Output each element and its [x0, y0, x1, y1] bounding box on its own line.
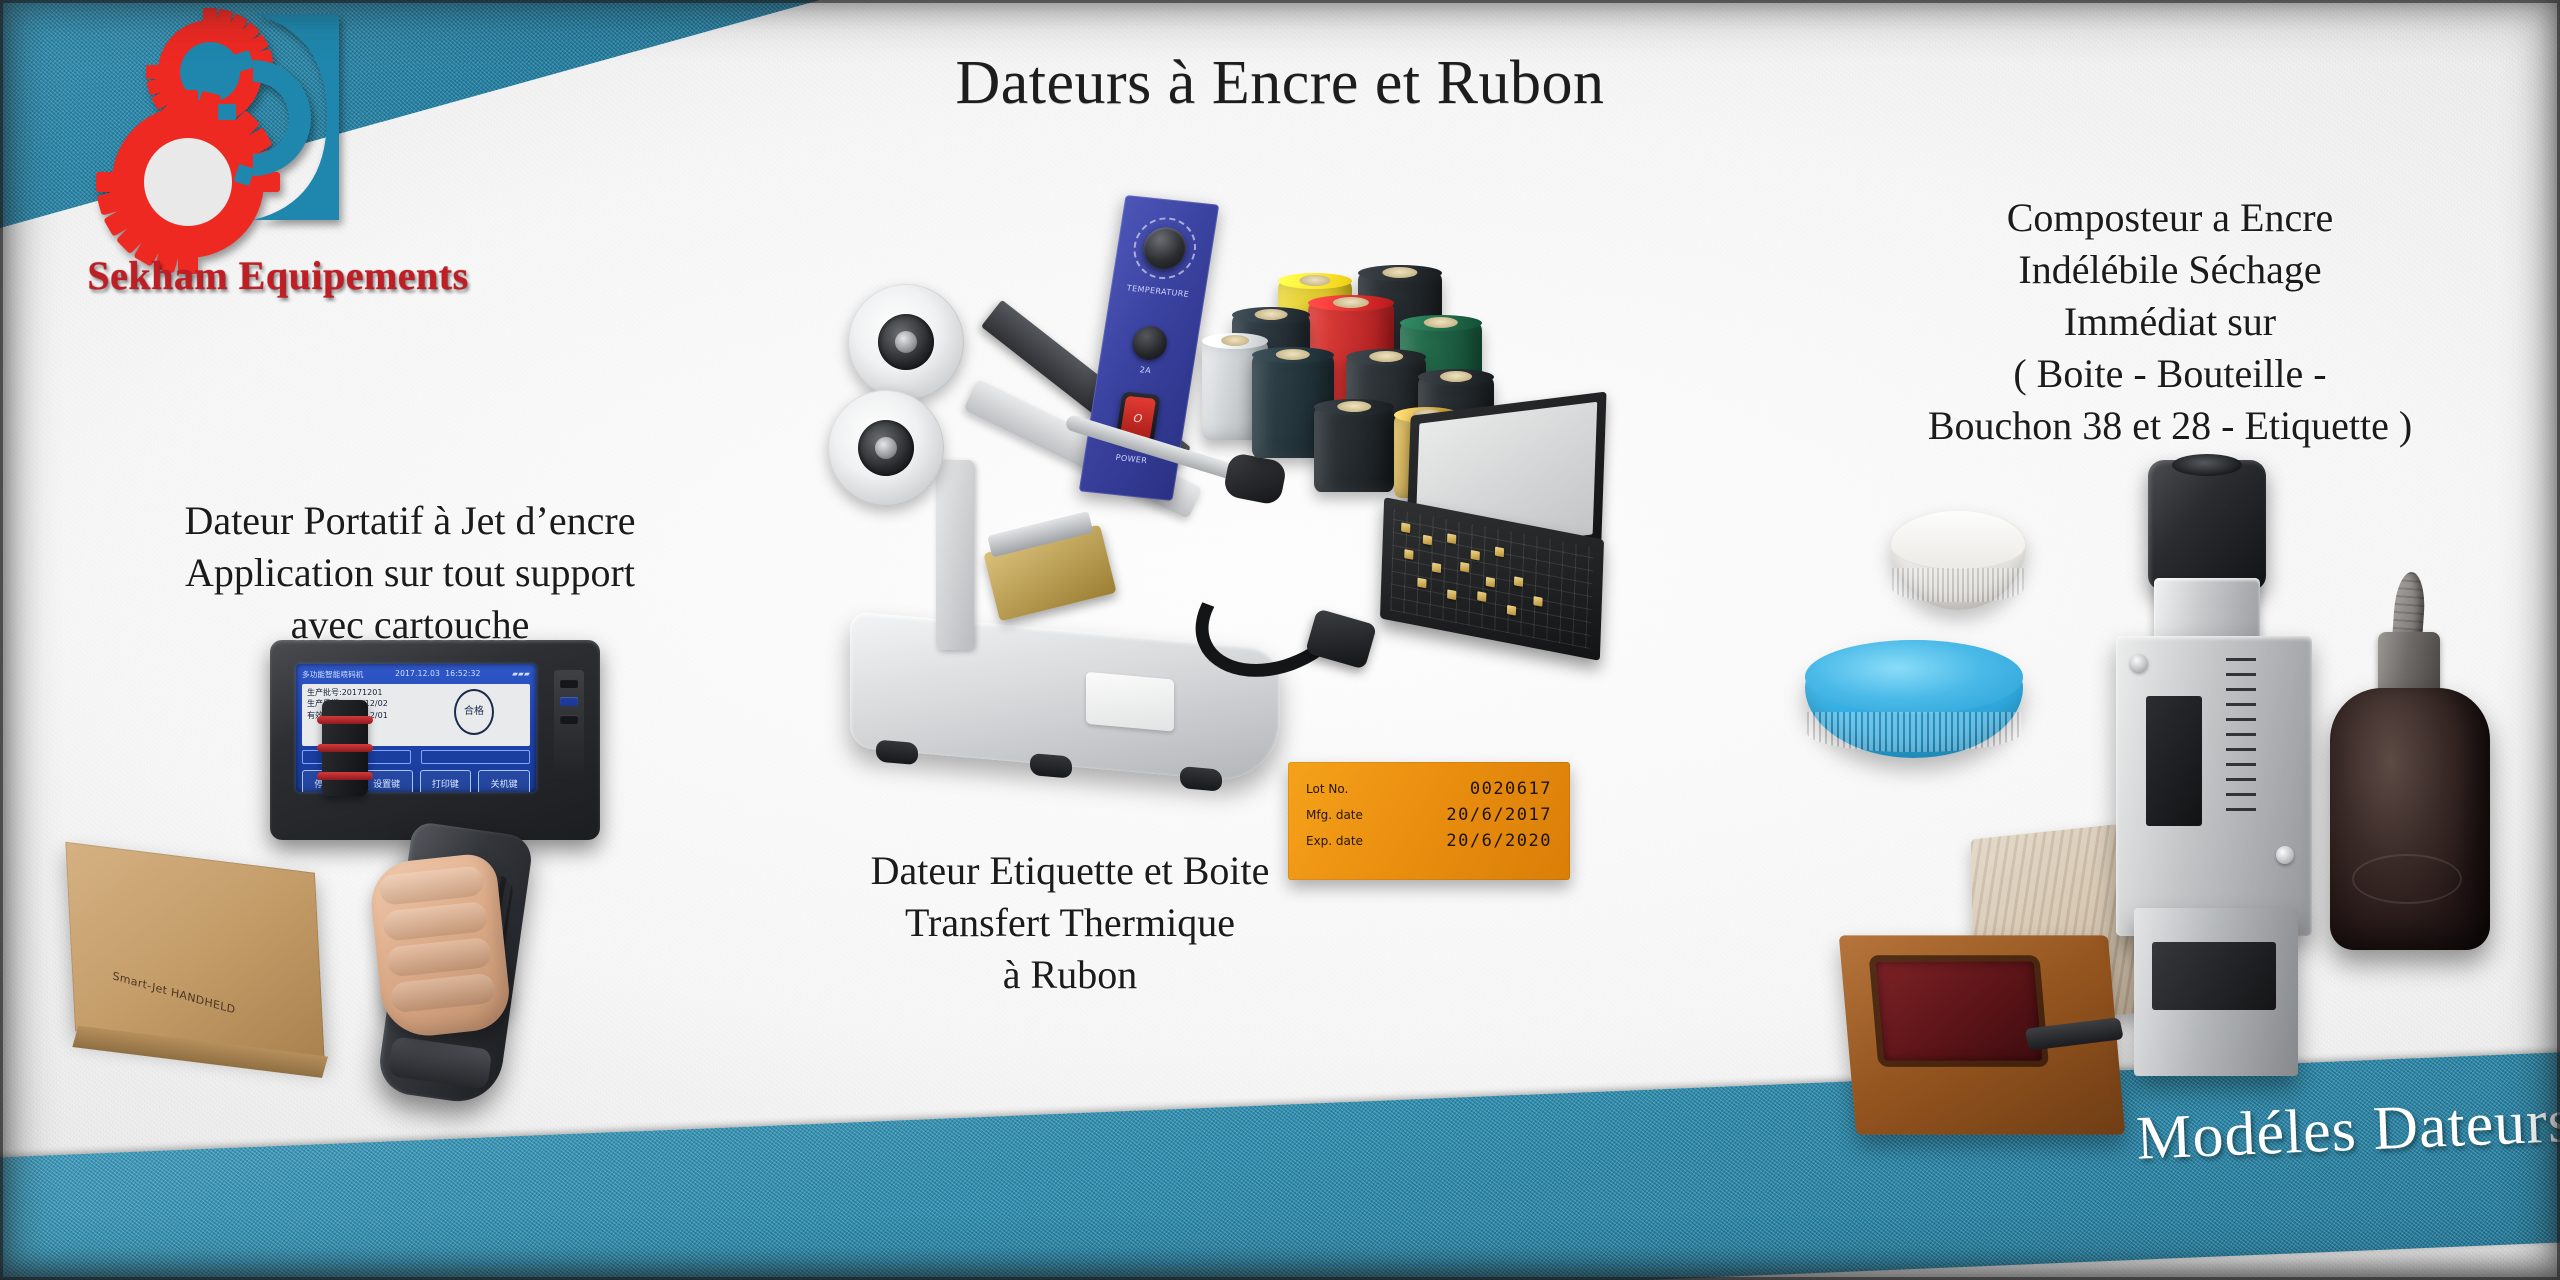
- caption-right: Composteur a Encre Indélébile Séchage Im…: [1840, 192, 2500, 452]
- softkey-power-off[interactable]: 关机键: [478, 770, 530, 792]
- cartridge-band-mid: [317, 744, 373, 752]
- base-foot-left: [876, 739, 918, 765]
- brass-type-case: [1380, 400, 1630, 680]
- print-head-block: [983, 525, 1116, 622]
- carton-flap: [72, 1026, 328, 1078]
- caption-left-line-2: Application sur tout support: [60, 547, 760, 599]
- cartridge-band-bottom: [317, 772, 373, 780]
- table-row: Mfg. date 20/6/2017: [1306, 802, 1552, 828]
- ink-cartridge: [322, 700, 368, 796]
- bottle-body: [2330, 688, 2490, 950]
- caption-center-line-3: à Rubon: [760, 949, 1380, 1001]
- power-plug: [1305, 608, 1377, 669]
- caption-right-line-5: Bouchon 38 et 28 - Etiquette ): [1840, 400, 2500, 452]
- mfg-date-value: 20/6/2017: [1392, 802, 1552, 828]
- brass-type-piece: [1447, 589, 1456, 600]
- base-pad: [1086, 672, 1174, 732]
- mfg-date-label: Mfg. date: [1306, 802, 1392, 828]
- brass-type-piece: [1471, 550, 1480, 561]
- cartridge-band-top: [317, 716, 373, 724]
- type-wheel-slots: [2226, 658, 2256, 818]
- ink-bottle: [2320, 570, 2500, 950]
- brass-type-piece: [1404, 549, 1413, 560]
- brass-type-piece: [1423, 535, 1432, 546]
- brass-type-piece: [1486, 577, 1495, 588]
- cardboard-carton: Smart-Jet HANDHELD: [65, 842, 324, 1062]
- operator-hand: [367, 852, 513, 1040]
- caption-center-line-1: Dateur Etiquette et Boite: [760, 845, 1380, 897]
- printed-date-label: Lot No. 0020617 Mfg. date 20/6/2017 Exp.…: [1288, 762, 1570, 880]
- lcd-status-bar: 多功能智能喷码机 2017.12.03 16:52:32 ▰▰▰: [302, 669, 530, 680]
- composteur-frame: [2116, 636, 2312, 936]
- caption-center-line-2: Transfert Thermique: [760, 897, 1380, 949]
- brass-type-piece: [1417, 578, 1426, 589]
- vga-port-icon: [560, 697, 578, 706]
- brass-type-piece: [1432, 562, 1441, 573]
- lcd-line-lot: 生产批号:20171201: [307, 687, 525, 698]
- lcd-datetime: 2017.12.03 16:52:32: [395, 669, 480, 680]
- brass-type-piece: [1447, 533, 1456, 544]
- caption-left-line-3: avec cartouche: [60, 599, 760, 651]
- composteur-knob[interactable]: [2148, 460, 2266, 590]
- battery-icon: ▰▰▰: [512, 669, 530, 680]
- lot-no-value: 0020617: [1392, 776, 1552, 802]
- brass-type-piece: [1507, 605, 1516, 616]
- softkey-print[interactable]: 打印键: [420, 770, 472, 792]
- brass-type-piece: [1401, 522, 1410, 533]
- frame-screw: [2130, 654, 2148, 672]
- table-row: Exp. date 20/6/2020: [1306, 828, 1552, 854]
- finger-2: [382, 901, 489, 942]
- caption-right-line-1: Composteur a Encre: [1840, 192, 2500, 244]
- type-wheel-housing: [2146, 696, 2202, 826]
- handheld-inkjet-printer-photo: Smart-Jet HANDHELD 多功能智能喷码机 2017.12.03 1…: [180, 640, 720, 1240]
- lcd-field-print-file[interactable]: [421, 750, 530, 764]
- page-title: Dateurs à Encre et Rubon: [0, 48, 2560, 119]
- caption-right-line-3: Immédiat sur: [1840, 296, 2500, 348]
- date-label-table: Lot No. 0020617 Mfg. date 20/6/2017 Exp.…: [1306, 776, 1552, 854]
- brass-type-piece: [1533, 596, 1542, 607]
- lot-no-label: Lot No.: [1306, 776, 1392, 802]
- blue-bottle-cap: [1805, 640, 2023, 758]
- base-foot-right: [1180, 766, 1222, 792]
- usb-port-icon: [560, 679, 578, 688]
- red-ink-pad: [1875, 961, 2042, 1061]
- table-row: Lot No. 0020617: [1306, 776, 1552, 802]
- composteur-base: [2134, 908, 2298, 1076]
- fuse-holder[interactable]: [1130, 324, 1169, 361]
- grip-base: [388, 1036, 493, 1090]
- caption-right-line-4: ( Boite - Bouteille -: [1840, 348, 2500, 400]
- ribbon-spool-upper: [848, 284, 964, 400]
- finger-3: [386, 937, 493, 978]
- caption-left-line-1: Dateur Portatif à Jet d’encre: [60, 495, 760, 547]
- slide-canvas: Sekham Equipements Dateurs à Encre et Ru…: [0, 0, 2560, 1280]
- fuse-label: 2A: [1098, 361, 1193, 380]
- finger-4: [390, 973, 497, 1014]
- printer-port-bay: [554, 670, 584, 782]
- lcd-app-title: 多功能智能喷码机: [302, 669, 364, 680]
- power-jack-icon: [560, 715, 578, 724]
- brass-type-piece: [1477, 591, 1486, 602]
- brass-type-piece: [1460, 562, 1469, 573]
- frame-screw: [2276, 846, 2294, 864]
- carton-print-text: Smart-Jet HANDHELD: [112, 969, 236, 1016]
- ribbon-spool-lower: [828, 390, 944, 506]
- printer-column: [936, 460, 974, 650]
- exp-date-value: 20/6/2020: [1392, 828, 1552, 854]
- printer-body: 多功能智能喷码机 2017.12.03 16:52:32 ▰▰▰ 生产批号:20…: [270, 640, 600, 840]
- base-foot-mid: [1030, 753, 1072, 779]
- finger-1: [378, 865, 485, 906]
- caption-left: Dateur Portatif à Jet d’encre Applicatio…: [60, 495, 760, 651]
- exp-date-label: Exp. date: [1306, 828, 1392, 854]
- brass-type-piece: [1514, 576, 1523, 587]
- quality-seal-stamp: 合格: [454, 689, 494, 735]
- white-bottle-cap: [1890, 510, 2026, 610]
- brass-type-piece: [1495, 547, 1504, 558]
- ink-pad-holder: [1839, 935, 2125, 1134]
- logo-wordmark: Sekham Equipements: [78, 252, 478, 299]
- caption-center: Dateur Etiquette et Boite Transfert Ther…: [760, 845, 1380, 1001]
- caption-right-line-2: Indélébile Séchage: [1840, 244, 2500, 296]
